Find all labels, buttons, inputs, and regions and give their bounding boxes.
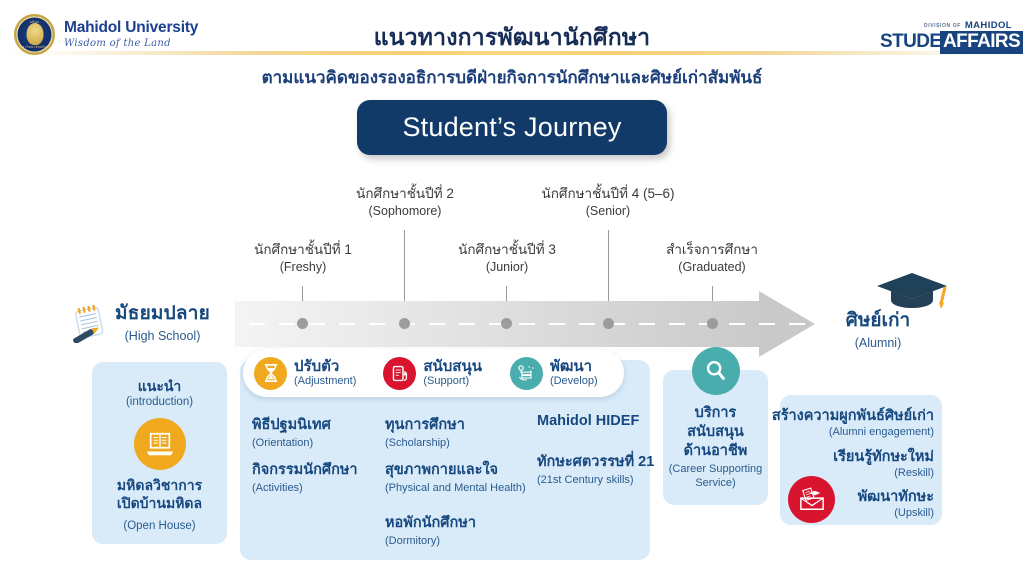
open-house-label-en: (Open House) xyxy=(92,520,227,532)
develop-item-1: Mahidol HIDEF xyxy=(537,413,639,429)
milestone-dot-5 xyxy=(707,318,718,329)
pillar-adjustment-en: (Adjustment) xyxy=(294,375,356,387)
open-house-label-th: มหิดลวิชาการ เปิดบ้านมหิดล xyxy=(92,477,227,512)
pillar-support-en: (Support) xyxy=(423,375,482,387)
pillar-adjustment-th: ปรับตัว xyxy=(294,359,356,375)
milestone-label-2: นักศึกษาชั้นปีที่ 2 (Sophomore) xyxy=(290,185,520,219)
career-service-card: บริการสนับสนุน ด้านอาชีพ (Career Support… xyxy=(663,370,768,505)
alumni-label-th: ศิษย์เก่า xyxy=(818,305,938,335)
milestone-label-5: สำเร็จการศึกษา (Graduated) xyxy=(597,241,827,275)
sa-affairs-text: AFFAIRS xyxy=(940,31,1023,54)
milestone-dot-1 xyxy=(297,318,308,329)
journey-arrow xyxy=(235,291,815,357)
milestone-label-1: นักศึกษาชั้นปีที่ 1 (Freshy) xyxy=(188,241,418,275)
adjustment-item-1: พิธีปฐมนิเทศ (Orientation) xyxy=(252,413,331,449)
alumni-heading: ศิษย์เก่า (Alumni) xyxy=(818,305,938,350)
pillar-support-th: สนับสนุน xyxy=(423,359,482,375)
support-item-2: สุขภาพกายและใจ (Physical and Mental Heal… xyxy=(385,458,526,494)
adjustment-item-2: กิจกรรมนักศึกษา (Activities) xyxy=(252,458,358,494)
arrow-dashed-line xyxy=(249,323,809,325)
network-idea-icon xyxy=(510,357,543,390)
sa-mahidol-text: MAHIDOL xyxy=(965,20,1012,31)
magnifier-icon xyxy=(692,347,740,395)
alumni-item-1: สร้างความผูกพันธ์ศิษย์เก่า (Alumni engag… xyxy=(772,407,934,440)
high-school-heading: มัธยมปลาย (High School) xyxy=(70,298,255,343)
high-school-label-en: (High School) xyxy=(70,329,255,343)
pillar-develop: พัฒนา (Develop) xyxy=(510,357,598,390)
milestone-label-4: นักศึกษาชั้นปีที่ 4 (5–6) (Senior) xyxy=(493,185,723,219)
milestone-dot-2 xyxy=(399,318,410,329)
introduction-label-en: (introduction) xyxy=(92,396,227,408)
develop-item-2: ทักษะศตวรรษที่ 21 (21st Century skills) xyxy=(537,450,654,486)
book-device-icon xyxy=(383,357,416,390)
career-en: (Career Supporting Service) xyxy=(667,462,764,491)
career-service-text: บริการสนับสนุน ด้านอาชีพ (Career Support… xyxy=(667,404,764,490)
pillar-adjustment: ปรับตัว (Adjustment) xyxy=(254,357,356,390)
milestone-dot-3 xyxy=(501,318,512,329)
student-affairs-logo: MAHIDOL DIVISION OF STUDENT AFFAIRS xyxy=(880,20,1012,54)
pillar-support: สนับสนุน (Support) xyxy=(383,357,482,390)
laptop-book-icon xyxy=(134,418,186,470)
pillar-develop-th: พัฒนา xyxy=(550,359,598,375)
support-item-3: หอพักนักศึกษา (Dormitory) xyxy=(385,511,476,547)
support-item-1: ทุนการศึกษา (Scholarship) xyxy=(385,413,465,449)
student-journey-banner: Student’s Journey xyxy=(357,100,667,155)
infographic-root: มหิดล มหาวิทยาลัยมหิดล Mahidol Universit… xyxy=(0,0,1024,575)
career-th-line1: บริการสนับสนุน xyxy=(667,404,764,442)
hourglass-icon xyxy=(254,357,287,390)
envelope-graduation-icon xyxy=(788,476,835,523)
career-th-line2: ด้านอาชีพ xyxy=(667,442,764,461)
high-school-label-th: มัธยมปลาย xyxy=(70,298,255,328)
milestone-label-3: นักศึกษาชั้นปีที่ 3 (Junior) xyxy=(392,241,622,275)
alumni-item-2: เรียนรู้ทักษะใหม่ (Reskill) xyxy=(833,448,934,481)
introduction-label-th: แนะนำ xyxy=(92,376,227,398)
sa-division-text: DIVISION OF xyxy=(924,23,961,29)
pillars-pill: ปรับตัว (Adjustment) สนับสนุน (Support) xyxy=(243,349,624,397)
page-subtitle: ตามแนวคิดของรองอธิการบดีฝ่ายกิจการนักศึก… xyxy=(0,64,1024,91)
pillar-develop-en: (Develop) xyxy=(550,375,598,387)
high-school-card: แนะนำ (introduction) มหิดลวิชาการ เปิดบ้… xyxy=(92,362,227,544)
alumni-label-en: (Alumni) xyxy=(818,336,938,350)
page-title: แนวทางการพัฒนานักศึกษา xyxy=(0,20,1024,56)
milestone-dot-4 xyxy=(603,318,614,329)
alumni-item-3: พัฒนาทักษะ (Upskill) xyxy=(858,488,934,521)
alumni-card: สร้างความผูกพันธ์ศิษย์เก่า (Alumni engag… xyxy=(780,395,942,525)
